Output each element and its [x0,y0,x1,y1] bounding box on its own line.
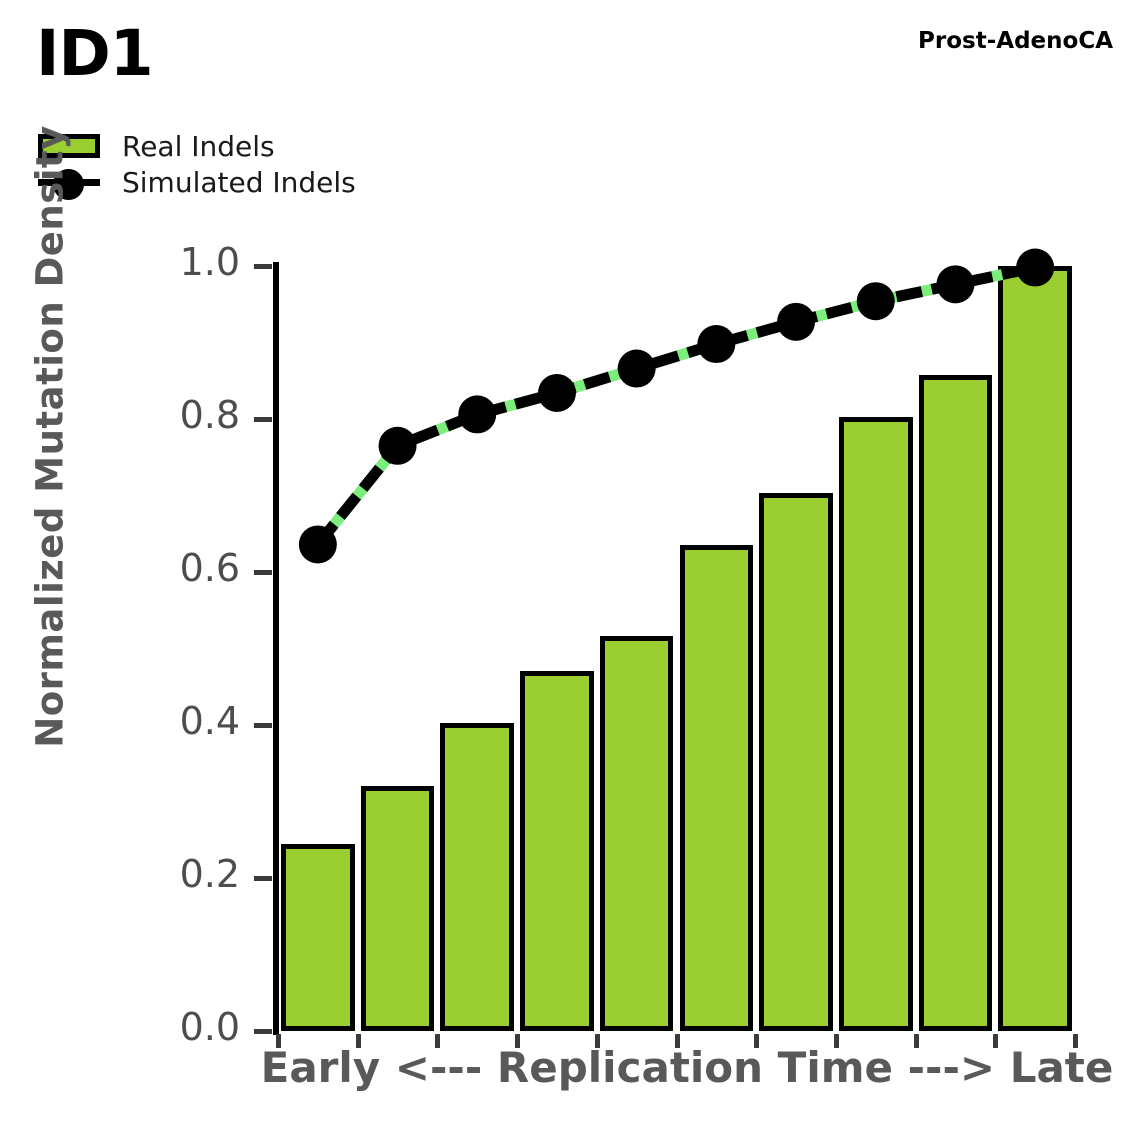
y-tick-mark [254,417,272,422]
bar-real-indels [361,786,435,1031]
y-axis-title: Normalized Mutation Density [29,0,72,887]
legend-label-simulated-indels: Simulated Indels [122,166,356,199]
figure-root: ID1 Prost-AdenoCA Real Indels Simulated … [0,0,1147,1125]
bar-real-indels [680,545,754,1031]
y-tick-mark [254,876,272,881]
plot-area [278,266,1075,1031]
bar-real-indels [839,417,913,1031]
cancer-type-label: Prost-AdenoCA [918,28,1113,54]
y-tick-label: 0.0 [0,1005,240,1049]
bar-real-indels [998,266,1072,1031]
bar-real-indels [281,844,355,1031]
y-tick-mark [254,1029,272,1034]
chart-legend: Real Indels Simulated Indels [38,128,356,200]
bar-real-indels [759,493,833,1031]
legend-label-real-indels: Real Indels [122,130,275,163]
x-axis-title: Early <--- Replication Time ---> Late [247,1043,1127,1092]
bar-real-indels [919,375,993,1031]
y-tick-mark [254,264,272,269]
y-tick-mark [254,570,272,575]
bar-real-indels [520,671,594,1031]
bar-real-indels [440,723,514,1031]
bar-real-indels [600,636,674,1031]
y-tick-mark [254,723,272,728]
legend-item-real-indels: Real Indels [38,128,356,164]
legend-item-simulated-indels: Simulated Indels [38,164,356,200]
